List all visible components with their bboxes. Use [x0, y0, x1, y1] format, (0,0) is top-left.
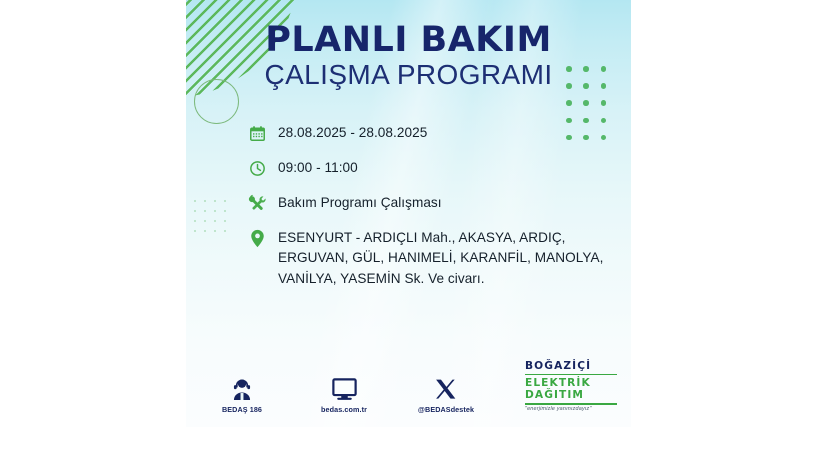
location-pin-icon — [244, 227, 270, 249]
channel-website[interactable]: bedas.com.tr — [306, 375, 382, 414]
page-title: PLANLI BAKIM — [186, 22, 631, 58]
brand-line-bogazici: BOĞAZİÇİ — [525, 360, 617, 373]
channel-label-website: bedas.com.tr — [321, 405, 367, 414]
detail-text-worktype: Bakım Programı Çalışması — [278, 192, 442, 213]
call-center-agent-icon — [231, 375, 253, 401]
detail-row-date: 28.08.2025 - 28.08.2025 — [244, 122, 614, 144]
page-subtitle: ÇALIŞMA PROGRAMI — [186, 60, 631, 90]
brand-divider-bottom — [525, 403, 617, 404]
channel-x[interactable]: @BEDASdestek — [408, 375, 484, 414]
channel-label-phone: BEDAŞ 186 — [222, 405, 262, 414]
screenshot-root: PLANLI BAKIM ÇALIŞMA PROGRAMI — [0, 0, 820, 461]
bedas-logo: BOĞAZİÇİ ELEKTRİK DAĞITIM "enerjimizle y… — [525, 360, 617, 412]
detail-row-worktype: Bakım Programı Çalışması — [244, 192, 614, 214]
contact-channels: BEDAŞ 186 bedas.com.tr — [204, 375, 484, 414]
calendar-icon — [244, 122, 270, 144]
maintenance-notice-poster: PLANLI BAKIM ÇALIŞMA PROGRAMI — [186, 0, 631, 427]
brand-line-dagitim: DAĞITIM — [525, 389, 617, 402]
poster-headline: PLANLI BAKIM ÇALIŞMA PROGRAMI — [186, 22, 631, 91]
channel-phone[interactable]: BEDAŞ 186 — [204, 375, 280, 414]
dot-grid-left-decoration — [194, 200, 234, 240]
notice-details: 28.08.2025 - 28.08.2025 09:00 - 11:00 — [244, 122, 614, 302]
clock-icon — [244, 157, 270, 179]
detail-text-time: 09:00 - 11:00 — [278, 157, 358, 178]
detail-text-location: ESENYURT - ARDIÇLI Mah., AKASYA, ARDIÇ, … — [278, 227, 614, 289]
brand-line-elektrik: ELEKTRİK — [525, 377, 617, 390]
detail-row-location: ESENYURT - ARDIÇLI Mah., AKASYA, ARDIÇ, … — [244, 227, 614, 289]
poster-footer: BEDAŞ 186 bedas.com.tr — [186, 362, 631, 414]
x-twitter-icon — [435, 375, 457, 401]
tools-icon — [244, 192, 270, 214]
channel-label-x: @BEDASdestek — [418, 405, 474, 414]
brand-divider — [525, 374, 617, 375]
detail-text-date: 28.08.2025 - 28.08.2025 — [278, 122, 427, 143]
detail-row-time: 09:00 - 11:00 — [244, 157, 614, 179]
brand-tagline: "enerjimizle yanınızdayız" — [525, 406, 617, 412]
monitor-icon — [332, 375, 357, 401]
